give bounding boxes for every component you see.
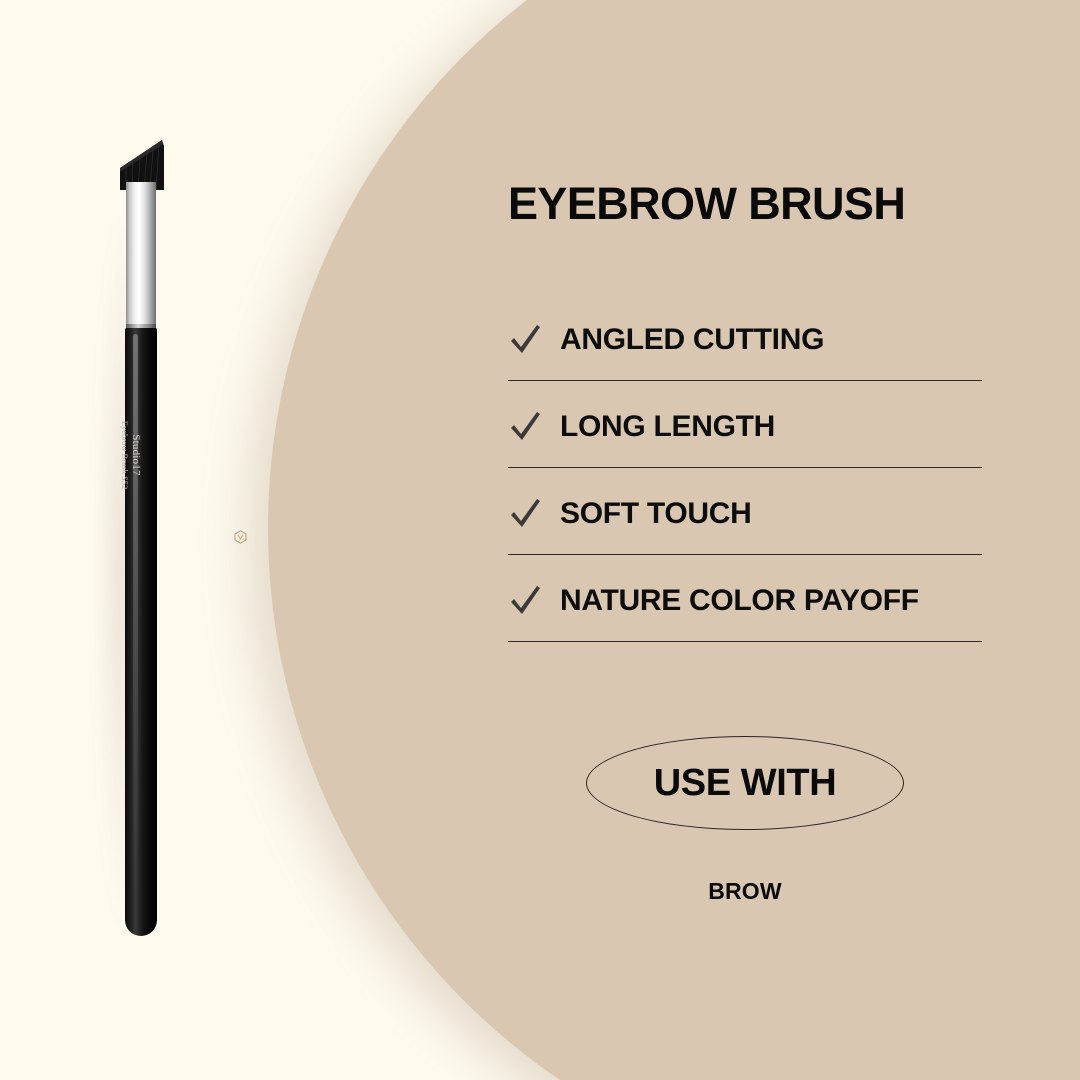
use-with-label: USE WITH — [654, 762, 837, 805]
divider — [508, 641, 982, 642]
handle-branding: Studio17 Eyebrow Brush S52 — [114, 385, 148, 525]
product-infographic: Studio17 Eyebrow Brush S52 EYEBROW BRUSH… — [0, 0, 1080, 1080]
feature-label: SOFT TOUCH — [560, 497, 751, 531]
use-with-section: USE WITH BROW — [508, 736, 982, 905]
list-item: LONG LENGTH — [508, 395, 982, 482]
feature-label: ANGLED CUTTING — [560, 323, 824, 357]
feature-label: LONG LENGTH — [560, 410, 775, 444]
check-icon — [508, 323, 542, 357]
check-icon — [508, 584, 542, 618]
list-item: ANGLED CUTTING — [508, 308, 982, 395]
list-item: NATURE COLOR PAYOFF — [508, 569, 982, 656]
use-with-badge: USE WITH — [586, 736, 904, 830]
page-title: EYEBROW BRUSH — [508, 178, 905, 230]
eyebrow-brush-product-image: Studio17 Eyebrow Brush S52 — [104, 138, 188, 938]
check-icon — [508, 410, 542, 444]
divider — [508, 380, 982, 381]
feature-label: NATURE COLOR PAYOFF — [560, 584, 919, 618]
use-with-item: BROW — [708, 878, 782, 905]
brand-name: Studio17 — [130, 434, 141, 475]
feature-list: ANGLED CUTTING LONG LENGTH — [508, 308, 982, 656]
hexagon-logo-icon — [234, 530, 247, 544]
divider — [508, 554, 982, 555]
check-icon — [508, 497, 542, 531]
metal-ferrule-icon — [126, 182, 156, 330]
brand-model: Eyebrow Brush S52 — [121, 421, 130, 489]
divider — [508, 467, 982, 468]
list-item: SOFT TOUCH — [508, 482, 982, 569]
